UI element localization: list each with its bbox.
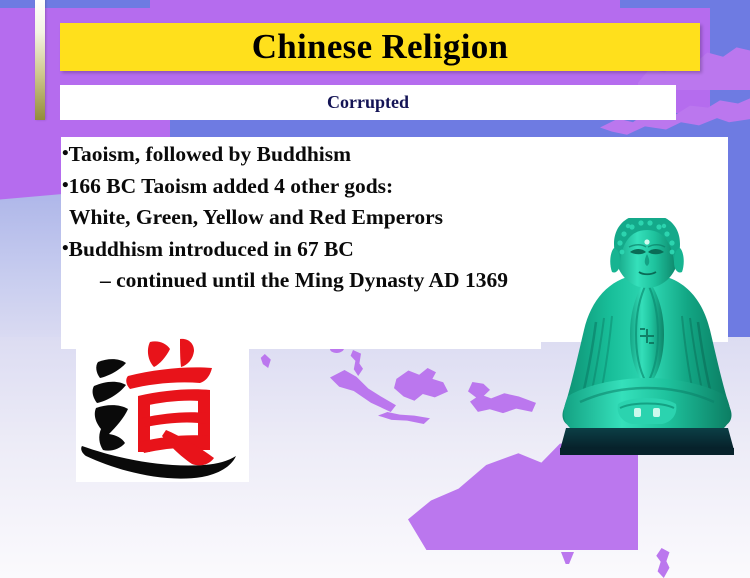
- bullet-marker: •: [62, 143, 69, 164]
- buddha-statue-icon: [552, 218, 742, 466]
- list-item: •Taoism, followed by Buddhism: [62, 138, 662, 170]
- sub-list-item-text: continued until the Ming Dynasty AD 1369: [116, 268, 508, 292]
- footer: ©1992 Prof David M. Harris Creation in t…: [0, 489, 750, 578]
- dash-marker: –: [100, 268, 111, 292]
- vertical-accent-bar: [35, 0, 45, 120]
- slide: Chinese Religion Corrupted •Taoism, foll…: [0, 0, 750, 578]
- subtitle-banner: Corrupted: [60, 85, 676, 120]
- page-title: Chinese Religion: [60, 23, 700, 71]
- page-subtitle: Corrupted: [60, 85, 676, 120]
- bullet-marker: •: [62, 175, 69, 196]
- title-banner: Chinese Religion: [60, 23, 700, 71]
- list-item-text: Buddhism introduced in 67 BC: [69, 237, 354, 261]
- list-item: •166 BC Taoism added 4 other gods:: [62, 170, 662, 202]
- bullet-marker: •: [62, 238, 69, 259]
- tao-character-icon: [76, 334, 249, 482]
- list-item-text: 166 BC Taoism added 4 other gods:: [69, 174, 394, 198]
- list-item-text: White, Green, Yellow and Red Emperors: [69, 205, 443, 229]
- list-item-text: Taoism, followed by Buddhism: [69, 142, 351, 166]
